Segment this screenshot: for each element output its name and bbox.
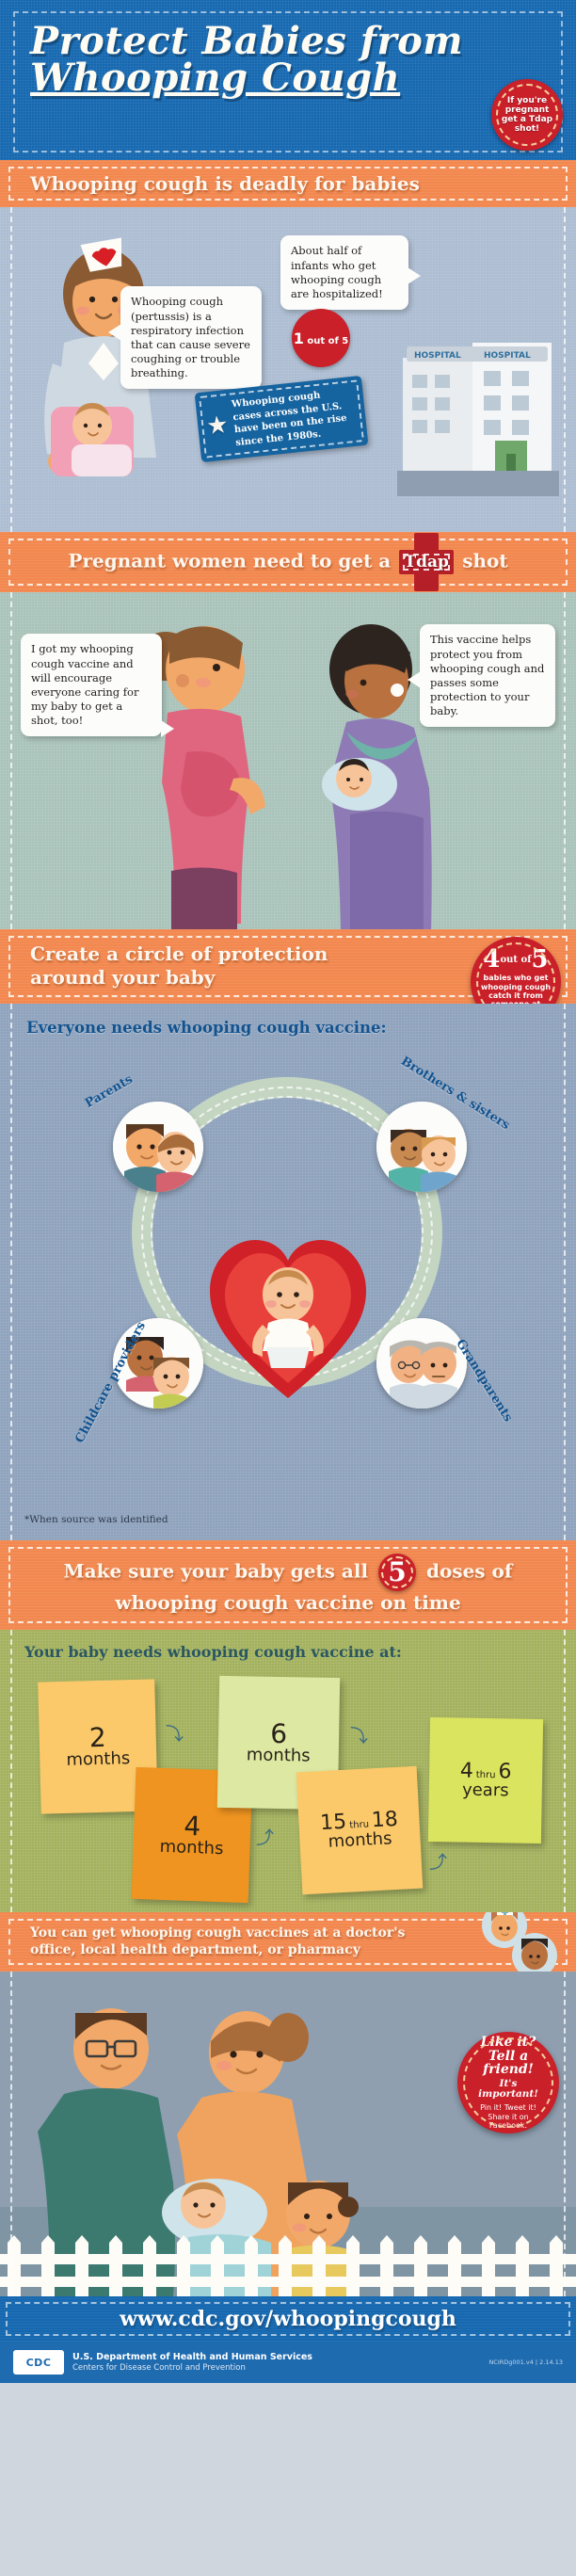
website-url-bar[interactable]: www.cdc.gov/whoopingcough (0, 2296, 576, 2342)
banner-where-to-get-vaccine: You can get whooping cough vaccines at a… (0, 1912, 576, 1972)
four-out-of-five-ratio: 4out of5 (483, 947, 548, 972)
speech-bubble-hospitalized: About half of infants who get whooping c… (280, 235, 408, 310)
bubble-tail (161, 720, 174, 737)
circle-node-parents (113, 1102, 203, 1192)
bubble-tail (408, 671, 421, 688)
banner5-line-2: office, local health department, or phar… (30, 1942, 360, 1957)
pharmacist-doctor-icons (472, 1912, 563, 1972)
section-circle-of-protection: Everyone needs whooping cough vaccine: (0, 1004, 576, 1540)
banner-deadly-for-babies: Whooping cough is deadly for babies (0, 160, 576, 207)
banner3-line-2: around your baby (30, 966, 215, 989)
speech-bubble-hospitalized-text: About half of infants who get whooping c… (291, 244, 383, 300)
right-dashed-rule (564, 1004, 566, 1540)
header-section: Protect Babies from Whooping Cough If yo… (0, 0, 576, 160)
right-dashed-rule (564, 1972, 566, 2296)
sticky-note-4-thru-6-years: 4 thru 6 years (428, 1717, 543, 1843)
footer-section: CDC U.S. Department of Health and Human … (0, 2342, 576, 2383)
speech-bubble-pertussis: Whooping cough (pertussis) is a respirat… (120, 286, 262, 389)
pregnant-tdap-badge-text: If you're pregnant get a Tdap shot! (491, 96, 563, 134)
banner5-line-1: You can get whooping cough vaccines at a… (30, 1925, 405, 1940)
like-it-line-4: Pin it! Tweet it! Share it on Facebook. (467, 2103, 550, 2131)
note-number: 2 (88, 1723, 106, 1751)
circle-node-grandparents (376, 1318, 467, 1409)
like-it-line-2: Tell a friend! (467, 2050, 550, 2077)
footer-org-text: U.S. Department of Health and Human Serv… (72, 2352, 312, 2374)
left-dashed-rule (10, 1630, 12, 1912)
tdap-cross-icon: Tdap (399, 548, 454, 576)
footer-org-line-2: Centers for Disease Control and Preventi… (72, 2363, 312, 2374)
banner4-text-before: Make sure your baby gets all (64, 1560, 369, 1583)
right-dashed-rule (564, 207, 566, 532)
ratio-text: out of 5 (307, 336, 348, 346)
schedule-heading: Your baby needs whooping cough vaccine a… (0, 1630, 576, 1661)
pregnant-tdap-badge: If you're pregnant get a Tdap shot! (491, 79, 563, 151)
star-icon: ★ (205, 412, 230, 439)
infographic-page: Protect Babies from Whooping Cough If yo… (0, 0, 576, 2576)
page-title: Protect Babies from Whooping Cough (23, 17, 553, 96)
family-illustration (0, 1972, 576, 2296)
circle-node-brothers-sisters (376, 1102, 467, 1192)
banner5-text: You can get whooping cough vaccines at a… (21, 1924, 435, 1960)
banner2-text: Pregnant women need to get a Tdap shot (21, 548, 555, 576)
arrow-icon-2: ⤵ (350, 1722, 368, 1747)
hospital-illustration: HOSPITAL HOSPITAL (397, 322, 559, 496)
speech-bubble-left-text: I got my whooping cough vaccine and will… (31, 642, 138, 727)
star-note-rising-cases: ★ Whooping cough cases across the U.S. h… (195, 376, 369, 462)
arrow-icon-1: ⤵ (166, 1720, 184, 1746)
ratio-number: 1 (294, 330, 304, 347)
circle-footnote: *When source was identified (24, 1514, 168, 1525)
note-number: 6 (270, 1719, 287, 1747)
like-it-line-1: Like it? (467, 2036, 550, 2050)
heart-with-baby-illustration (204, 1232, 372, 1402)
svg-text:HOSPITAL: HOSPITAL (414, 351, 461, 361)
section-family-photo: Like it? Tell a friend! It's important! … (0, 1972, 576, 2296)
speech-bubble-vaccine-protects: This vaccine helps protect you from whoo… (420, 624, 555, 727)
four-out-of-five-badge: 4out of5 babies who get whooping cough c… (471, 937, 561, 1004)
left-dashed-rule (10, 1004, 12, 1540)
circle-label-parents: Parents (83, 1072, 136, 1111)
note-unit: months (66, 1750, 130, 1770)
cdc-logo: CDC (13, 2350, 64, 2375)
note-number-2: 18 (371, 1808, 398, 1831)
bubble-tail (108, 324, 121, 341)
arrow-icon-3: ⤴ (256, 1824, 274, 1849)
circle-section-heading: Everyone needs whooping cough vaccine: (0, 1004, 576, 1037)
section-two-women: I got my whooping cough vaccine and will… (0, 592, 576, 929)
banner-five-doses: Make sure your baby gets all 5 doses of … (0, 1540, 576, 1629)
banner4-text: Make sure your baby gets all 5 doses of … (21, 1554, 555, 1614)
section-nurse-illustration: Whooping cough (pertussis) is a respirat… (0, 207, 576, 532)
left-dashed-rule (10, 1972, 12, 2296)
note-unit: months (247, 1747, 311, 1765)
note-unit: months (328, 1830, 392, 1851)
banner-pregnant-tdap: Pregnant women need to get a Tdap shot (0, 532, 576, 592)
banner3-text: Create a circle of protection around you… (21, 942, 425, 989)
like-it-line-3: It's important! (467, 2079, 550, 2101)
banner3-line-1: Create a circle of protection (30, 942, 328, 965)
bubble-tail (408, 267, 421, 284)
note-thru: thru (476, 1770, 496, 1780)
banner2-text-after: shot (462, 550, 507, 572)
note-number: 4 (184, 1811, 201, 1840)
right-dashed-rule (564, 592, 566, 929)
banner4-line-2: whooping cough vaccine on time (115, 1591, 460, 1614)
like-it-tell-a-friend-badge: Like it? Tell a friend! It's important! … (457, 2032, 559, 2133)
note-number: 4 (460, 1760, 473, 1781)
four-out-of-five-text: babies who get whooping cough catch it f… (471, 972, 561, 1004)
note-unit: years (462, 1781, 509, 1800)
badge-num-5: 5 (532, 945, 549, 974)
badge-num-4: 4 (483, 945, 500, 974)
cdc-website-link[interactable]: www.cdc.gov/whoopingcough (120, 2307, 456, 2331)
sticky-note-15-thru-18-months: 15 thru 18 months (296, 1765, 424, 1894)
section-vaccine-schedule: Your baby needs whooping cough vaccine a… (0, 1630, 576, 1912)
badge-out-of: out of (500, 955, 531, 965)
speech-bubble-right-text: This vaccine helps protect you from whoo… (430, 633, 544, 717)
five-doses-badge: 5 (378, 1554, 416, 1591)
footer-org-line-1: U.S. Department of Health and Human Serv… (72, 2352, 312, 2363)
star-note-text: Whooping cough cases across the U.S. hav… (231, 386, 356, 449)
banner-circle-of-protection: Create a circle of protection around you… (0, 929, 576, 1004)
title-line-2: Whooping Cough (30, 59, 553, 96)
right-dashed-rule (564, 1630, 566, 1912)
banner1-text: Whooping cough is deadly for babies (21, 172, 555, 195)
left-dashed-rule (10, 207, 12, 532)
arrow-icon-4: ⤴ (429, 1848, 447, 1874)
banner4-text-after: doses of (426, 1560, 512, 1583)
left-dashed-rule (10, 592, 12, 929)
speech-bubble-i-got-my-vaccine: I got my whooping cough vaccine and will… (21, 634, 162, 736)
svg-text:HOSPITAL: HOSPITAL (484, 351, 531, 361)
publication-id: NCIRDg001.v4 | 2.14.13 (488, 2359, 563, 2366)
banner2-text-before: Pregnant women need to get a (68, 550, 391, 572)
note-number-2: 6 (498, 1761, 511, 1782)
one-out-of-five-badge: 1 out of 5 (292, 309, 350, 367)
note-unit: months (159, 1839, 223, 1859)
speech-bubble-pertussis-text: Whooping cough (pertussis) is a respirat… (131, 295, 250, 379)
